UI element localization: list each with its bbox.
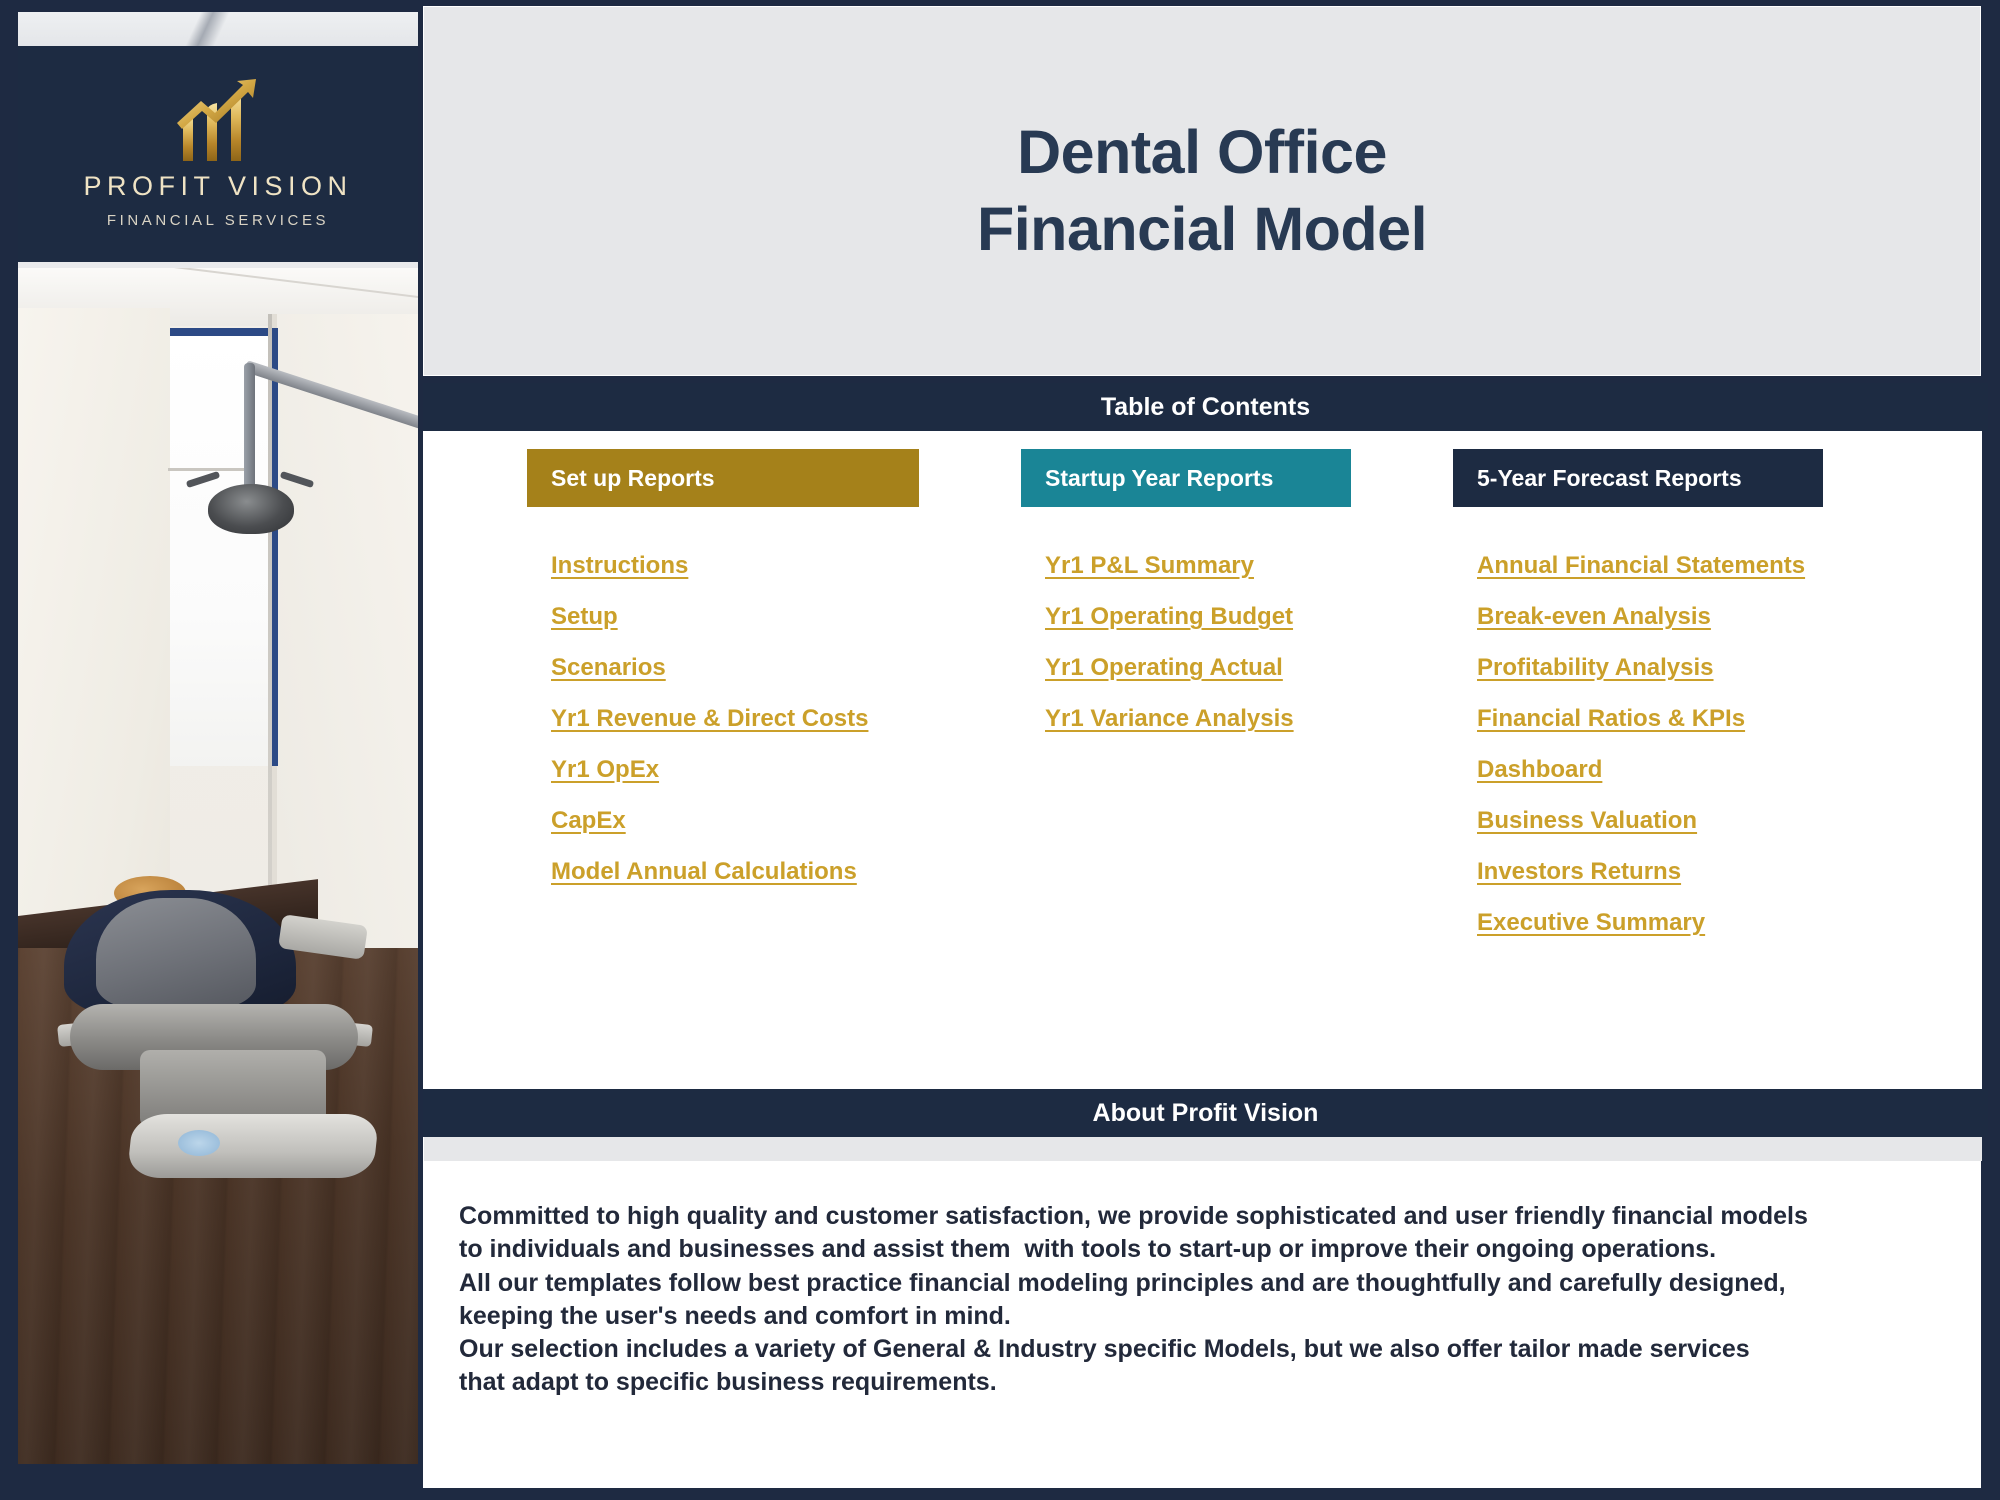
page-title-line-2: Financial Model <box>977 191 1427 268</box>
table-of-contents-band: Table of Contents <box>423 383 1988 431</box>
brand-tagline: FINANCIAL SERVICES <box>107 212 329 229</box>
toc-column-header-five-year-forecast: 5-Year Forecast Reports <box>1453 449 1823 507</box>
sidebar: PROFIT VISION FINANCIAL SERVICES <box>8 6 423 1484</box>
toc-column-header-setup: Set up Reports <box>527 449 919 507</box>
toc-link-instructions[interactable]: Instructions <box>551 552 688 580</box>
window-sill <box>168 468 248 471</box>
about-body: Committed to high quality and customer s… <box>423 1161 1981 1488</box>
about-paragraphs: Committed to high quality and customer s… <box>459 1200 1808 1400</box>
about-line-2: to individuals and businesses and assist… <box>459 1233 1808 1266</box>
marble-strip <box>18 12 418 46</box>
toc-link-scenarios[interactable]: Scenarios <box>551 654 666 682</box>
toc-column-header-startup-year: Startup Year Reports <box>1021 449 1351 507</box>
chair-cushion <box>96 898 256 1008</box>
toc-link-list-setup: Instructions Setup Scenarios Yr1 Revenue… <box>527 552 919 886</box>
toc-link-list-startup-year: Yr1 P&L Summary Yr1 Operating Budget Yr1… <box>1021 552 1351 733</box>
about-line-5: Our selection includes a variety of Gene… <box>459 1333 1808 1366</box>
toc-link-setup[interactable]: Setup <box>551 603 618 631</box>
toc-link-annual-financial-statements[interactable]: Annual Financial Statements <box>1477 552 1805 580</box>
dental-operatory-image <box>18 268 418 1464</box>
workbook-cover-page: PROFIT VISION FINANCIAL SERVICES Dental … <box>0 0 2000 1500</box>
about-line-3: All our templates follow best practice f… <box>459 1267 1808 1300</box>
brand-logo-block: PROFIT VISION FINANCIAL SERVICES <box>18 46 418 262</box>
toc-link-yr1-operating-budget[interactable]: Yr1 Operating Budget <box>1045 603 1293 631</box>
toc-link-profitability-analysis[interactable]: Profitability Analysis <box>1477 654 1714 682</box>
toc-link-yr1-revenue-direct-costs[interactable]: Yr1 Revenue & Direct Costs <box>551 705 868 733</box>
toc-column-setup: Set up Reports Instructions Setup Scenar… <box>527 449 919 909</box>
toc-link-yr1-operating-actual[interactable]: Yr1 Operating Actual <box>1045 654 1283 682</box>
title-panel: Dental Office Financial Model <box>423 6 1981 376</box>
toc-link-model-annual-calculations[interactable]: Model Annual Calculations <box>551 858 857 886</box>
toc-link-list-five-year-forecast: Annual Financial Statements Break-even A… <box>1453 552 1823 937</box>
toc-link-break-even-analysis[interactable]: Break-even Analysis <box>1477 603 1711 631</box>
page-title-line-1: Dental Office <box>1017 114 1387 191</box>
about-line-1: Committed to high quality and customer s… <box>459 1200 1808 1233</box>
main-content: Dental Office Financial Model Table of C… <box>423 6 1988 1488</box>
toc-link-dashboard[interactable]: Dashboard <box>1477 756 1602 784</box>
toc-link-financial-ratios-kpis[interactable]: Financial Ratios & KPIs <box>1477 705 1745 733</box>
window <box>170 328 278 766</box>
toc-column-five-year-forecast: 5-Year Forecast Reports Annual Financial… <box>1453 449 1823 960</box>
about-spacer <box>423 1137 1982 1161</box>
toc-link-yr1-opex[interactable]: Yr1 OpEx <box>551 756 659 784</box>
toc-link-yr1-pl-summary[interactable]: Yr1 P&L Summary <box>1045 552 1254 580</box>
toc-link-capex[interactable]: CapEx <box>551 807 626 835</box>
about-band: About Profit Vision <box>423 1089 1988 1137</box>
gold-growth-bar-chart-arrow-icon <box>171 79 265 161</box>
chair-foot-pedal <box>178 1130 220 1156</box>
table-of-contents-label: Table of Contents <box>1101 393 1310 422</box>
chair-base <box>127 1114 380 1178</box>
toc-column-startup-year: Startup Year Reports Yr1 P&L Summary Yr1… <box>1021 449 1351 756</box>
table-of-contents-body: Set up Reports Instructions Setup Scenar… <box>423 431 1982 1089</box>
brand-name: PROFIT VISION <box>83 171 352 202</box>
dental-light-head <box>208 484 294 534</box>
about-label: About Profit Vision <box>1093 1099 1319 1128</box>
toc-link-business-valuation[interactable]: Business Valuation <box>1477 807 1697 835</box>
toc-link-investors-returns[interactable]: Investors Returns <box>1477 858 1681 886</box>
toc-link-yr1-variance-analysis[interactable]: Yr1 Variance Analysis <box>1045 705 1294 733</box>
about-line-6: that adapt to specific business requirem… <box>459 1366 1808 1399</box>
toc-link-executive-summary[interactable]: Executive Summary <box>1477 909 1705 937</box>
about-line-4: keeping the user's needs and comfort in … <box>459 1300 1808 1333</box>
dental-light-stem <box>244 363 255 503</box>
